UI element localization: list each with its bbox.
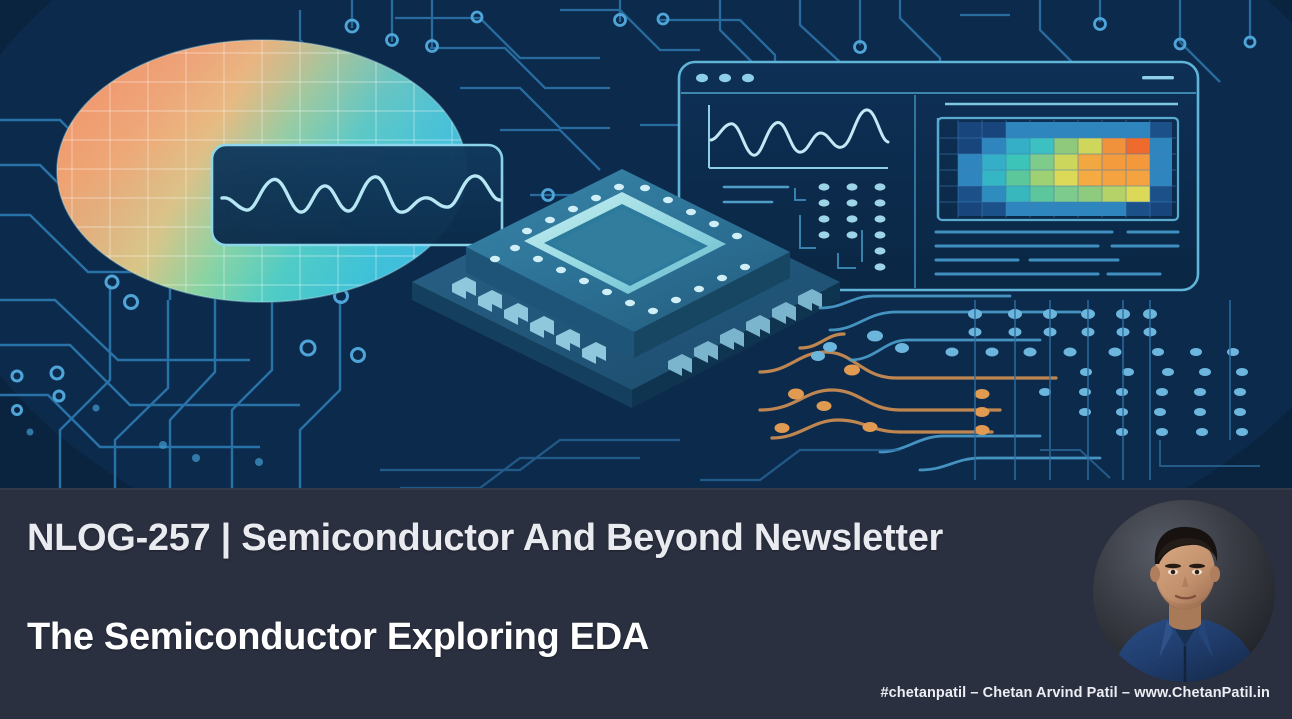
hero-artwork [0, 0, 1292, 488]
avatar-portrait [1093, 500, 1275, 682]
avatar [1093, 500, 1275, 682]
page-title: NLOG-257 | Semiconductor And Beyond News… [27, 517, 943, 560]
hero-illustration [0, 0, 1292, 488]
page-subtitle: The Semiconductor Exploring EDA [27, 616, 649, 659]
author-credit: #chetanpatil – Chetan Arvind Patil – www… [880, 685, 1270, 701]
waveform-panel [212, 145, 502, 245]
newsletter-banner: NLOG-257 | Semiconductor And Beyond News… [0, 0, 1292, 719]
footer-band: NLOG-257 | Semiconductor And Beyond News… [0, 488, 1292, 719]
window-dots [696, 74, 754, 82]
